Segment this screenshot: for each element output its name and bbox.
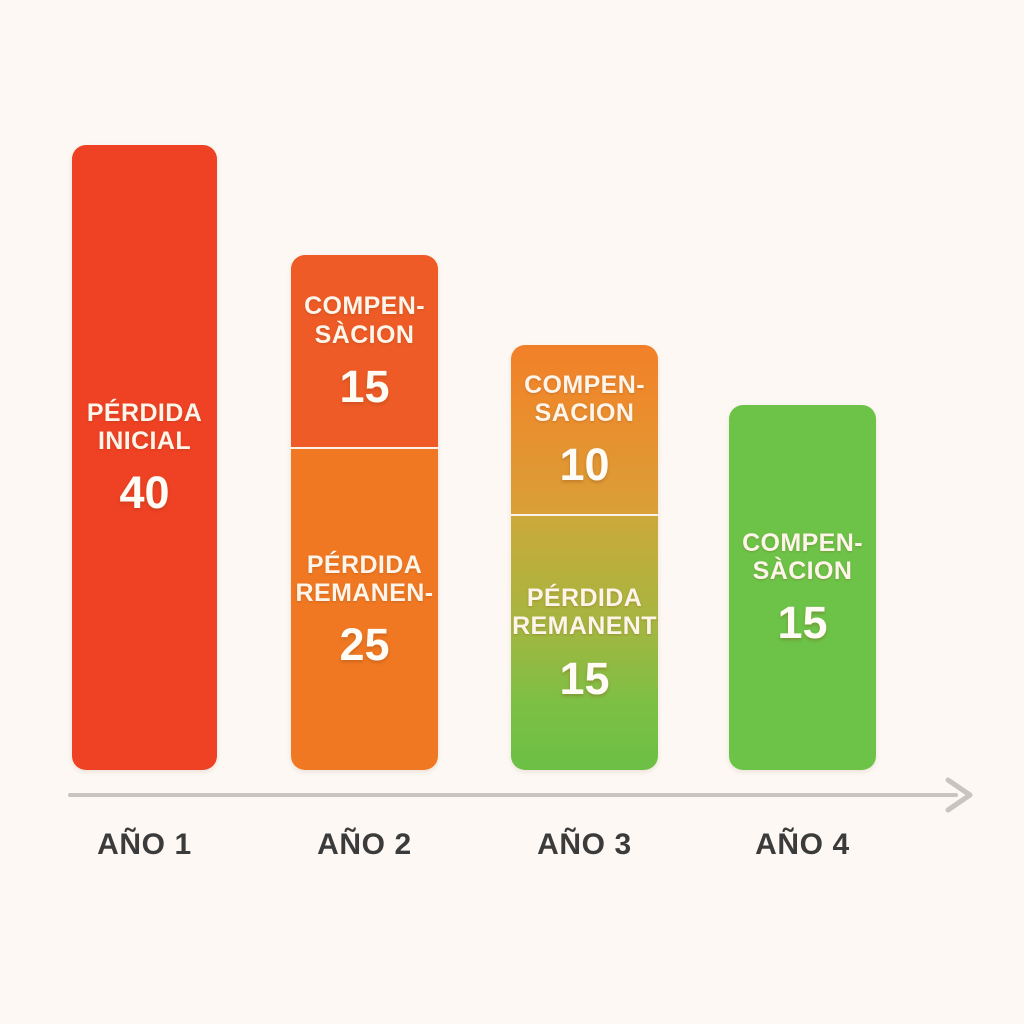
axis-tick-ano-2: AÑO 2 — [291, 828, 438, 862]
bar-ano-4[interactable]: COMPEN- SÀCION 15 — [729, 405, 876, 770]
segment-label: COMPEN- SACION — [524, 371, 645, 428]
axis-tick-ano-4: AÑO 4 — [729, 828, 876, 862]
bar-group-ano-1[interactable]: PÉRDIDA INICIAL 40 — [72, 145, 217, 770]
bar-segment-perdida-remanente[interactable]: PÉRDIDA REMANENT 15 — [511, 514, 658, 770]
segment-label: PÉRDIDA INICIAL — [87, 399, 202, 456]
plot-area: PÉRDIDA INICIAL 40 COMPEN- SÀCION 15 PÉR… — [0, 0, 1024, 795]
segment-value: 15 — [339, 363, 389, 410]
bar-segment-perdida-remanente[interactable]: PÉRDIDA REMANEN- 25 — [291, 447, 438, 770]
segment-value: 25 — [339, 621, 389, 668]
segment-label: PÉRDIDA REMANENT — [512, 584, 657, 641]
stacked-bar-chart: PÉRDIDA INICIAL 40 COMPEN- SÀCION 15 PÉR… — [0, 0, 1024, 1024]
segment-value: 40 — [119, 469, 169, 516]
axis-tick-labels: AÑO 1 AÑO 2 AÑO 3 AÑO 4 — [0, 828, 1024, 884]
segment-label: COMPEN- SÀCION — [742, 529, 863, 586]
bar-ano-3[interactable]: COMPEN- SACION 10 PÉRDIDA REMANENT 15 — [511, 345, 658, 770]
bar-segment-compensacion[interactable]: COMPEN- SÀCION 15 — [291, 255, 438, 447]
segment-value: 15 — [559, 655, 609, 702]
segment-label: COMPEN- SÀCION — [304, 292, 425, 349]
segment-value: 10 — [559, 441, 609, 488]
bar-group-ano-2[interactable]: COMPEN- SÀCION 15 PÉRDIDA REMANEN- 25 — [291, 255, 438, 770]
bar-ano-1[interactable]: PÉRDIDA INICIAL 40 — [72, 145, 217, 770]
arrow-right-icon — [944, 775, 978, 815]
axis-tick-ano-1: AÑO 1 — [72, 828, 217, 862]
bar-segment-compensacion[interactable]: COMPEN- SÀCION 15 — [729, 405, 876, 770]
time-axis-line — [68, 793, 958, 797]
axis-tick-ano-3: AÑO 3 — [511, 828, 658, 862]
bar-ano-2[interactable]: COMPEN- SÀCION 15 PÉRDIDA REMANEN- 25 — [291, 255, 438, 770]
segment-label: PÉRDIDA REMANEN- — [296, 551, 434, 608]
bar-group-ano-3[interactable]: COMPEN- SACION 10 PÉRDIDA REMANENT 15 — [511, 345, 658, 770]
bar-segment-perdida-inicial[interactable]: PÉRDIDA INICIAL 40 — [72, 145, 217, 770]
bar-group-ano-4[interactable]: COMPEN- SÀCION 15 — [729, 405, 876, 770]
bar-segment-compensacion[interactable]: COMPEN- SACION 10 — [511, 345, 658, 514]
segment-value: 15 — [777, 599, 827, 646]
